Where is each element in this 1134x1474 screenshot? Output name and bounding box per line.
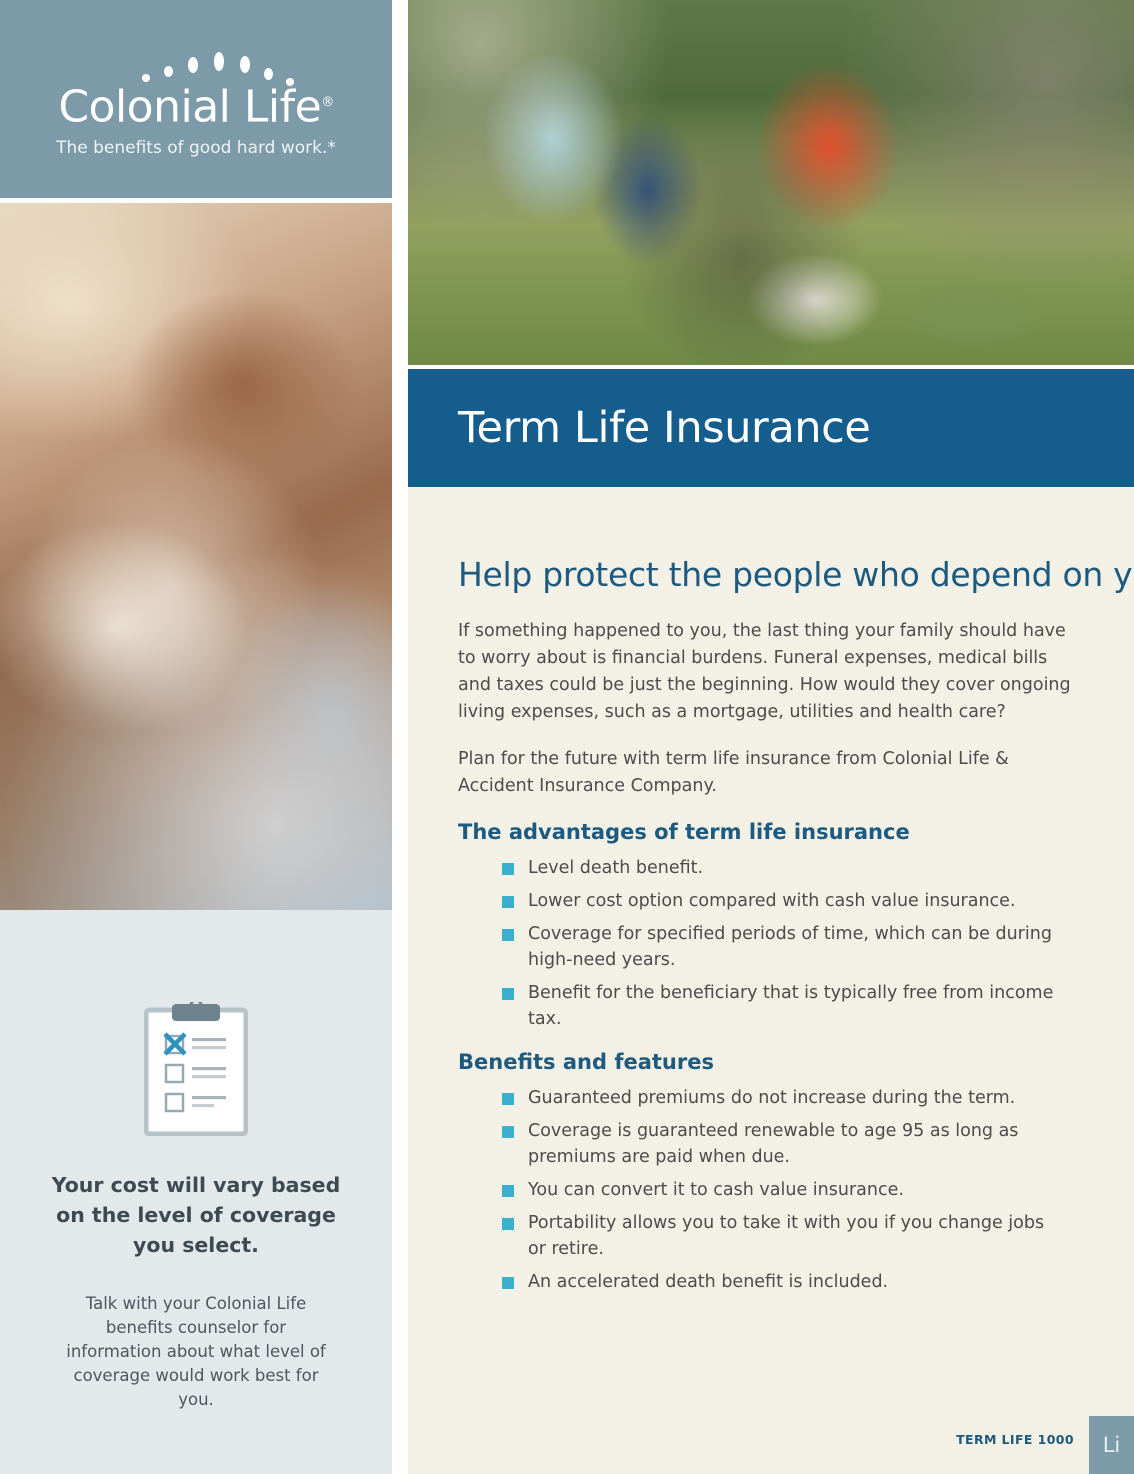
advantages-list: Level death benefit. Lower cost option c… [458, 855, 1086, 1032]
top-hero-photo [408, 0, 1134, 365]
list-item: Portability allows you to take it with y… [502, 1210, 1062, 1262]
list-item: Level death benefit. [502, 855, 1062, 881]
section-heading-benefits: Benefits and features [458, 1050, 1086, 1074]
logo-header-band: Colonial Life® The benefits of good hard… [0, 0, 392, 198]
list-item: An accelerated death benefit is included… [502, 1269, 1062, 1295]
main-content: Help protect the people who depend on yo… [408, 487, 1134, 1474]
sidebar-body-text: Talk with your Colonial Life benefits co… [22, 1292, 370, 1412]
sidebar-headline: Your cost will vary based on the level o… [22, 1170, 370, 1260]
right-column: Term Life Insurance Help protect the peo… [408, 0, 1134, 1474]
left-hero-photo-overlay [0, 203, 392, 910]
section-heading-advantages: The advantages of term life insurance [458, 820, 1086, 844]
list-item: Guaranteed premiums do not increase duri… [502, 1085, 1062, 1111]
list-item: Benefit for the beneficiary that is typi… [502, 980, 1062, 1032]
brochure-page: Colonial Life® The benefits of good hard… [0, 0, 1134, 1474]
main-headline: Help protect the people who depend on yo… [458, 555, 1086, 595]
logo-dots-arc [46, 48, 346, 82]
title-banner: Term Life Insurance [408, 369, 1134, 487]
form-code: TERM LIFE 1000 [956, 1432, 1074, 1447]
registered-mark-icon: ® [321, 95, 334, 110]
li-badge: Li [1089, 1416, 1134, 1474]
left-column: Colonial Life® The benefits of good hard… [0, 0, 402, 1474]
left-hero-photo [0, 203, 392, 910]
logo-wordmark-text: Colonial Life [58, 82, 321, 133]
logo-tagline: The benefits of good hard work.* [46, 138, 346, 158]
intro-paragraph-2: Plan for the future with term life insur… [458, 746, 1073, 800]
list-item: Coverage is guaranteed renewable to age … [502, 1118, 1062, 1170]
colonial-life-logo: Colonial Life® The benefits of good hard… [46, 48, 346, 158]
cost-callout-sidebar: Your cost will vary based on the level o… [0, 910, 392, 1474]
list-item: Lower cost option compared with cash val… [502, 888, 1062, 914]
top-hero-photo-overlay [408, 0, 1134, 365]
logo-wordmark: Colonial Life® [46, 80, 346, 131]
page-title: Term Life Insurance [408, 369, 1134, 487]
benefits-list: Guaranteed premiums do not increase duri… [458, 1085, 1086, 1295]
clipboard-checklist-icon [144, 1002, 248, 1136]
clipboard-icon-holder [22, 910, 370, 1136]
intro-paragraph-1: If something happened to you, the last t… [458, 618, 1073, 726]
list-item: Coverage for specified periods of time, … [502, 921, 1062, 973]
clipboard-svg [144, 1002, 248, 1136]
list-item: You can convert it to cash value insuran… [502, 1177, 1062, 1203]
